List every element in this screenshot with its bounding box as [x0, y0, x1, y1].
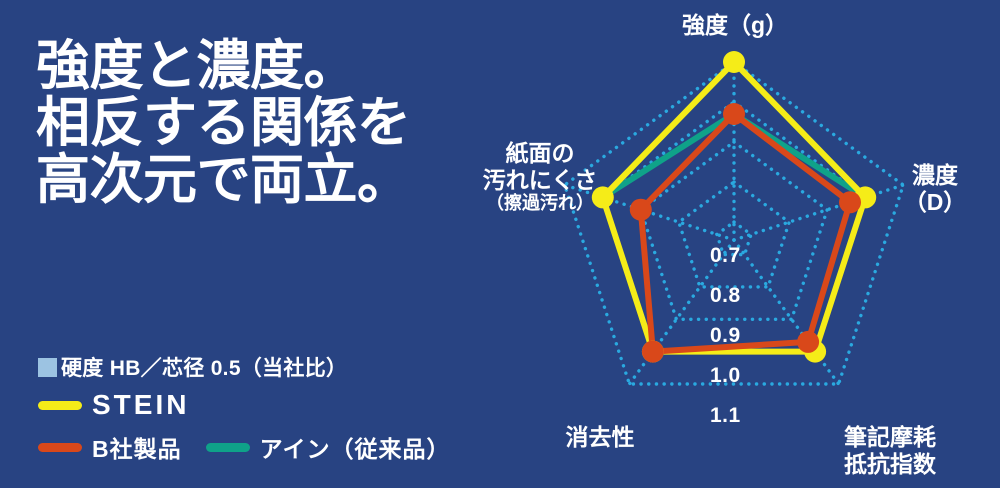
legend-label-ain: アイン（従来品）	[260, 430, 451, 464]
radar-chart: 強度（g） 濃度（D） 筆記摩耗抵抗指数 消去性 紙面の汚れにくさ（擦過汚れ） …	[480, 0, 1000, 488]
headline-block: 強度と濃度。 相反する関係を 高次元で両立。	[36, 38, 476, 209]
legend-group-bsha: B社製品	[38, 430, 182, 464]
tick-label-1: 0.8	[710, 284, 741, 308]
line-swatch-ain-icon	[206, 443, 250, 452]
legend-group-ain: アイン（従来品）	[206, 430, 451, 464]
headline-line-2: 相反する関係を	[36, 95, 476, 152]
legend-row-stein: STEIN	[38, 389, 478, 421]
axis-label-erasability: 消去性	[520, 424, 680, 451]
legend-label-stein: STEIN	[92, 389, 189, 421]
axis-label-strength: 強度（g）	[630, 12, 840, 39]
legend-row-competitors: B社製品 アイン（従来品）	[38, 430, 478, 464]
line-swatch-bsha-icon	[38, 443, 82, 452]
legend: 硬度 HB／芯径 0.5（当社比） STEIN B社製品 アイン（従来品）	[38, 352, 478, 473]
legend-label-bsha: B社製品	[92, 430, 182, 464]
axis-label-wear: 筆記摩耗抵抗指数	[800, 424, 980, 477]
tick-label-3: 1.0	[710, 364, 741, 388]
tick-label-2: 0.9	[710, 324, 741, 348]
tick-label-4: 1.1	[710, 404, 741, 428]
tick-label-0: 0.7	[710, 244, 741, 268]
headline-line-3: 高次元で両立。	[36, 152, 476, 209]
axis-label-smudge: 紙面の汚れにくさ（擦過汚れ）	[470, 140, 610, 214]
legend-condition-text: 硬度 HB／芯径 0.5（当社比）	[61, 352, 347, 382]
poster-root: 強度と濃度。 相反する関係を 高次元で両立。 硬度 HB／芯径 0.5（当社比）…	[0, 0, 1000, 488]
line-swatch-stein-icon	[38, 401, 82, 410]
axis-label-density: 濃度（D）	[880, 162, 990, 215]
headline-line-1: 強度と濃度。	[36, 38, 476, 95]
legend-condition-row: 硬度 HB／芯径 0.5（当社比）	[38, 352, 478, 382]
square-swatch-icon	[38, 358, 57, 377]
